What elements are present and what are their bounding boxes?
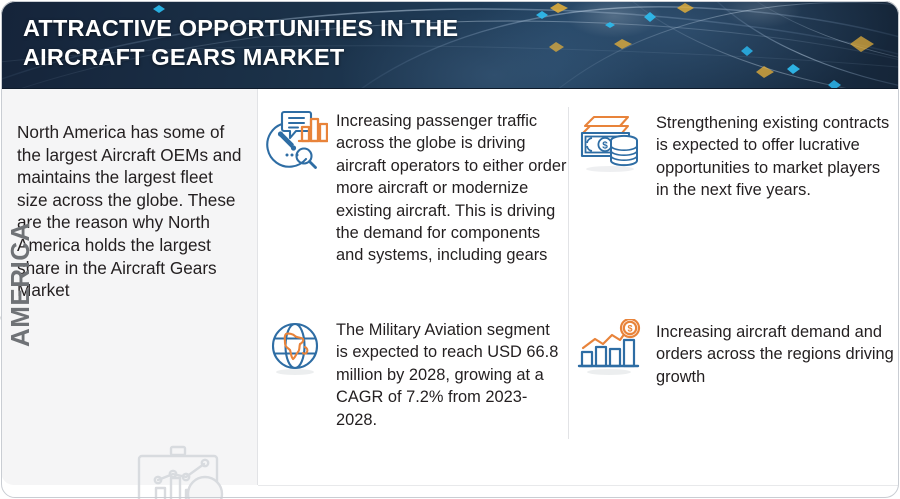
insight-text: Increasing passenger traffic across the … <box>336 110 568 267</box>
money-banknote-coins-icon: $ <box>576 109 644 173</box>
presentation-chart-magnifier-icon <box>128 444 238 499</box>
region-description: North America has some of the largest Ai… <box>17 121 243 302</box>
content-area: Increasing passenger traffic across the … <box>258 89 898 485</box>
globe-icon <box>266 319 324 377</box>
bottom-divider <box>258 485 898 486</box>
infographic-root: ATTRACTIVE OPPORTUNITIES IN THE AIRCRAFT… <box>0 0 900 499</box>
insight-text: Strengthening existing contracts is expe… <box>656 112 896 202</box>
page-title: ATTRACTIVE OPPORTUNITIES IN THE AIRCRAFT… <box>23 14 623 72</box>
svg-text:$: $ <box>602 141 608 152</box>
page-title-line-2: AIRCRAFT GEARS MARKET <box>23 43 623 72</box>
page-title-line-1: ATTRACTIVE OPPORTUNITIES IN THE <box>23 14 623 43</box>
svg-text:$: $ <box>627 324 632 334</box>
column-divider <box>568 107 569 439</box>
analytics-percent-bar-chart-icon <box>266 109 328 177</box>
insight-text: Increasing aircraft demand and orders ac… <box>656 321 894 388</box>
region-label: NORTH AMERICA <box>0 197 35 347</box>
insight-text: The Military Aviation segment is expecte… <box>336 319 566 431</box>
region-panel: North America has some of the largest Ai… <box>1 89 258 485</box>
header-banner: ATTRACTIVE OPPORTUNITIES IN THE AIRCRAFT… <box>1 1 899 89</box>
growth-bar-chart-dollar-icon: $ <box>576 319 644 377</box>
